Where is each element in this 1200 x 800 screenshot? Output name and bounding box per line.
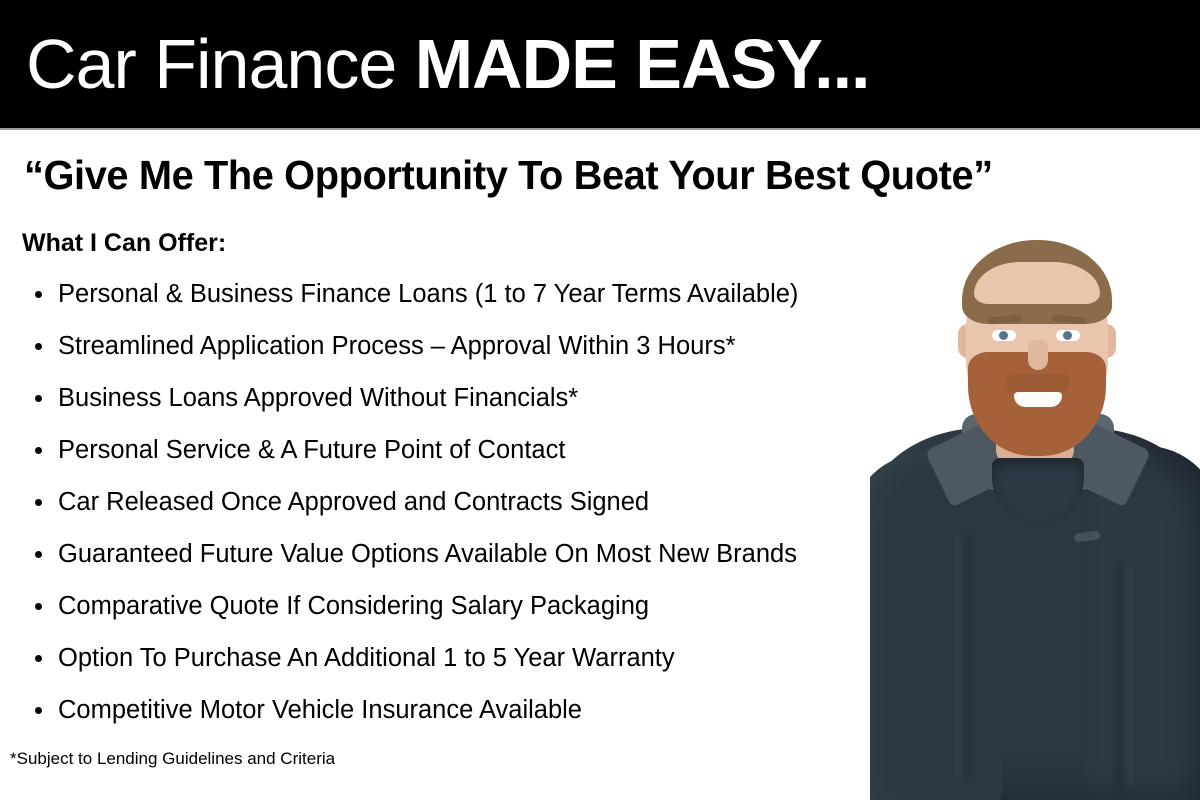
quote-headline: “Give Me The Opportunity To Beat Your Be… (24, 151, 1149, 199)
header-band: Car Finance MADE EASY... (0, 0, 1200, 128)
list-item-label: Personal Service & A Future Point of Con… (58, 436, 565, 464)
list-item-label: Business Loans Approved Without Financia… (58, 384, 578, 412)
list-item: Personal & Business Finance Loans (1 to … (22, 268, 1022, 320)
list-item: Comparative Quote If Considering Salary … (22, 580, 1022, 632)
offer-label: What I Can Offer: (22, 228, 226, 258)
bullet-dot-icon (35, 291, 42, 298)
bullet-dot-icon (35, 447, 42, 454)
bullet-dot-icon (35, 655, 42, 662)
list-item: Streamlined Application Process – Approv… (22, 320, 1022, 372)
page-title-strong: MADE EASY... (415, 25, 870, 103)
offer-bullet-list: Personal & Business Finance Loans (1 to … (22, 268, 1022, 736)
list-item: Personal Service & A Future Point of Con… (22, 424, 1022, 476)
bullet-dot-icon (35, 343, 42, 350)
bullet-dot-icon (35, 551, 42, 558)
list-item: Business Loans Approved Without Financia… (22, 372, 1022, 424)
bullet-dot-icon (35, 499, 42, 506)
list-item: Guaranteed Future Value Options Availabl… (22, 528, 1022, 580)
list-item-label: Guaranteed Future Value Options Availabl… (58, 540, 797, 568)
bullet-dot-icon (35, 707, 42, 714)
footnote: *Subject to Lending Guidelines and Crite… (10, 748, 335, 770)
bullet-dot-icon (35, 603, 42, 610)
list-item-label: Car Released Once Approved and Contracts… (58, 488, 649, 516)
page-title-light: Car Finance (26, 25, 415, 103)
bullet-dot-icon (35, 395, 42, 402)
list-item-label: Comparative Quote If Considering Salary … (58, 592, 649, 620)
list-item: Competitive Motor Vehicle Insurance Avai… (22, 684, 1022, 736)
list-item: Option To Purchase An Additional 1 to 5 … (22, 632, 1022, 684)
list-item-label: Option To Purchase An Additional 1 to 5 … (58, 644, 675, 672)
main-content: “Give Me The Opportunity To Beat Your Be… (0, 128, 1200, 800)
list-item-label: Personal & Business Finance Loans (1 to … (58, 280, 798, 308)
list-item-label: Competitive Motor Vehicle Insurance Avai… (58, 696, 582, 724)
flyer-canvas: Car Finance MADE EASY... (0, 0, 1200, 800)
list-item: Car Released Once Approved and Contracts… (22, 476, 1022, 528)
page-title: Car Finance MADE EASY... (26, 20, 870, 108)
list-item-label: Streamlined Application Process – Approv… (58, 332, 736, 360)
